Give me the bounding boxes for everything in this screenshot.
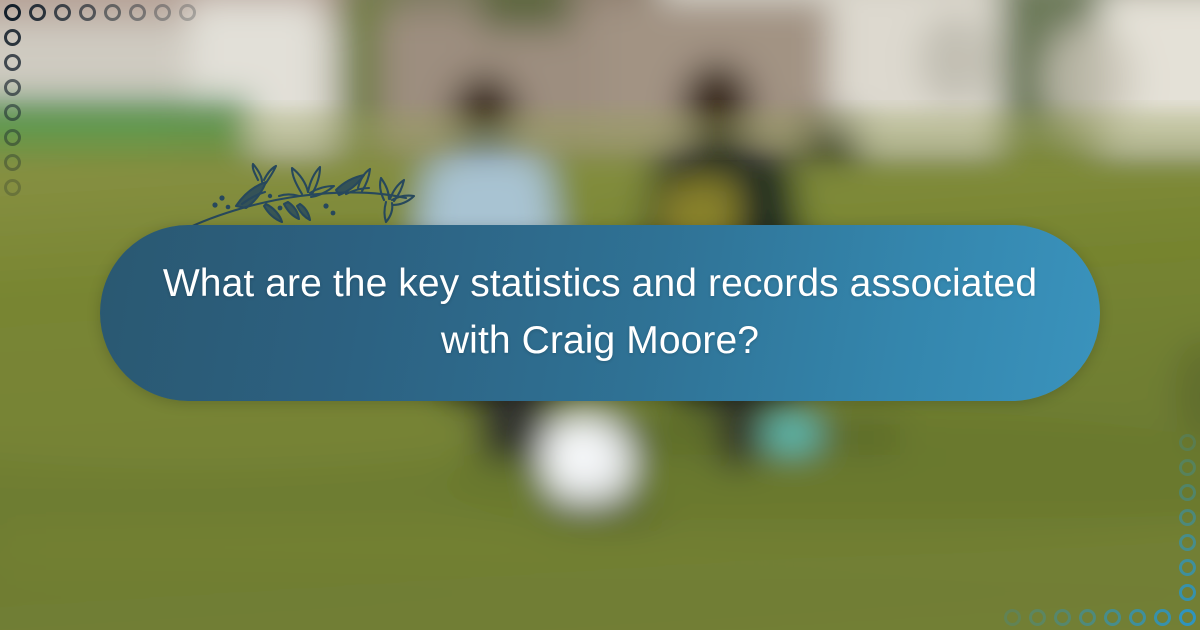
decorative-circle (4, 54, 21, 71)
decorative-circle (1179, 459, 1196, 476)
decorative-circle (1029, 609, 1046, 626)
decorative-circle (104, 4, 121, 21)
decorative-circle (1004, 609, 1021, 626)
question-card: What are the key statistics and records … (0, 0, 1200, 630)
corner-dots-bottom-right (1000, 430, 1200, 630)
question-pill: What are the key statistics and records … (100, 225, 1100, 401)
decorative-circle (1054, 609, 1071, 626)
decorative-circle (1179, 584, 1196, 601)
decorative-circle (1104, 609, 1121, 626)
decorative-circle (1179, 559, 1196, 576)
decorative-circle (1079, 609, 1096, 626)
decorative-circle (1179, 534, 1196, 551)
decorative-circle (179, 4, 196, 21)
decorative-circle (1179, 509, 1196, 526)
decorative-circle (1179, 434, 1196, 451)
decorative-circle (4, 104, 21, 121)
decorative-circle (1154, 609, 1171, 626)
decorative-circle (154, 4, 171, 21)
decorative-circle (4, 179, 21, 196)
decorative-circle (129, 4, 146, 21)
decorative-circle (4, 154, 21, 171)
decorative-circle (1179, 484, 1196, 501)
decorative-circle (79, 4, 96, 21)
decorative-circle (4, 129, 21, 146)
decorative-circle (4, 29, 21, 46)
page-title: What are the key statistics and records … (150, 256, 1050, 369)
decorative-circle (29, 4, 46, 21)
decorative-circle (54, 4, 71, 21)
decorative-circle (1129, 609, 1146, 626)
decorative-circle (4, 79, 21, 96)
decorative-circle (4, 4, 21, 21)
decorative-circle (1179, 609, 1196, 626)
